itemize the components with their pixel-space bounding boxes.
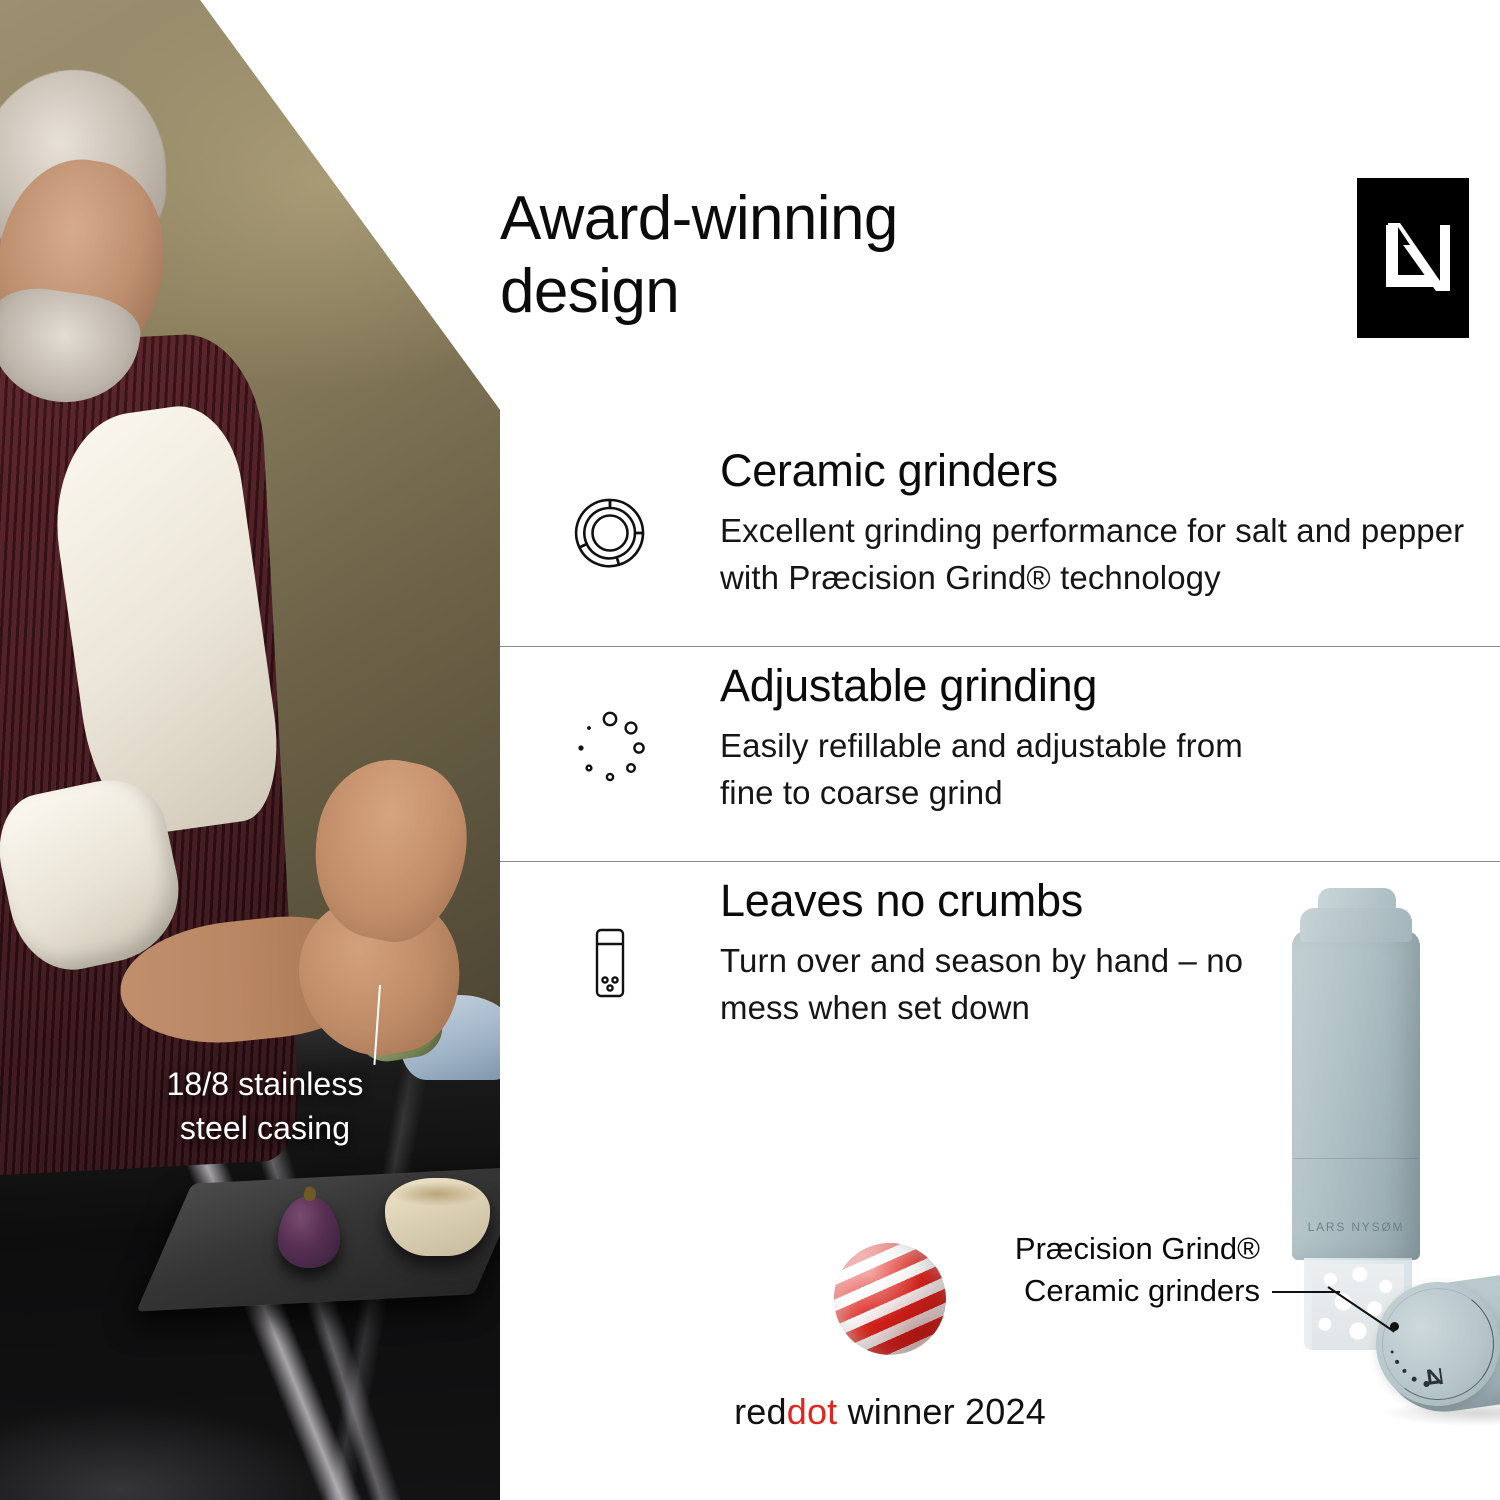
feature-description: Easily refillable and adjustable from fi… xyxy=(720,723,1280,817)
reddot-award-caption: reddot winner 2024 xyxy=(700,1391,1080,1433)
feature-item-ceramic-grinders: Ceramic grinders Excellent grinding perf… xyxy=(500,432,1500,646)
reddot-award-badge: reddot winner 2024 xyxy=(700,1243,1080,1433)
grinder-seam xyxy=(1294,1158,1418,1159)
feature-heading: Ceramic grinders xyxy=(720,446,1500,496)
dial-graduation-dots xyxy=(1372,1278,1500,1409)
product-photo: LARS NYSØM xyxy=(1230,930,1500,1490)
reddot-label-winner: winner 2024 xyxy=(837,1391,1046,1432)
photo-callout-label: 18/8 stainless steel casing xyxy=(70,1062,460,1150)
feature-text-block: Ceramic grinders Excellent grinding perf… xyxy=(720,432,1500,602)
upright-grinder xyxy=(1292,930,1420,1260)
page-title: Award-winning design xyxy=(500,182,1140,328)
reddot-sphere-icon xyxy=(834,1243,946,1355)
cheese-round xyxy=(385,1178,490,1256)
callout-leader-horizontal xyxy=(1272,1291,1340,1293)
reddot-label-red: red xyxy=(734,1391,787,1432)
product-infographic: 18/8 stainless steel casing Award-winnin… xyxy=(0,0,1500,1500)
feature-text-block: Adjustable grinding Easily refillable an… xyxy=(720,647,1500,817)
feature-item-adjustable-grinding: Adjustable grinding Easily refillable an… xyxy=(500,647,1500,861)
ceramic-burr-ring-icon xyxy=(500,432,720,572)
feature-description: Turn over and season by hand – no mess w… xyxy=(720,938,1310,1032)
grinder-brand-mark: LARS NYSØM xyxy=(1296,1220,1416,1234)
grinder-body-icon xyxy=(500,862,720,1002)
ln-monogram-logo-icon xyxy=(1357,178,1469,338)
lifestyle-photo: 18/8 stainless steel casing xyxy=(0,0,500,1500)
reddot-label-dot: dot xyxy=(787,1391,838,1432)
feature-heading: Adjustable grinding xyxy=(720,661,1500,711)
grind-coarseness-dots-icon xyxy=(500,647,720,787)
callout-leader-endpoint-dot xyxy=(1390,1322,1399,1331)
photo-person xyxy=(0,40,440,1160)
dial-ln-logo-icon xyxy=(1425,1367,1443,1387)
feature-description: Excellent grinding performance for salt … xyxy=(720,508,1500,602)
